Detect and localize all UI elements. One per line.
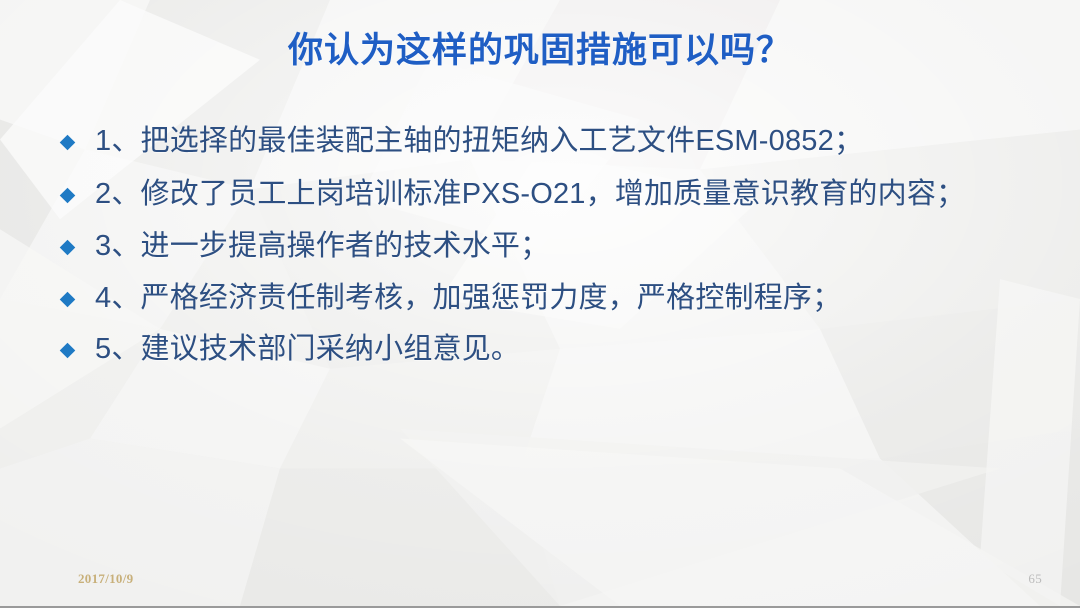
- diamond-bullet-icon: [60, 343, 76, 359]
- presentation-slide: 你认为这样的巩固措施可以吗？ 1、把选择的最佳装配主轴的扭矩纳入工艺文件ESM-…: [0, 0, 1080, 608]
- list-item-text: 1、把选择的最佳装配主轴的扭矩纳入工艺文件ESM-0852；: [95, 122, 1040, 161]
- footer-date: 2017/10/9: [78, 571, 133, 587]
- slide-title: 你认为这样的巩固措施可以吗？: [0, 22, 1080, 73]
- diamond-bullet-icon: [60, 291, 76, 307]
- list-item: 5、建议技术部门采纳小组意见。: [62, 330, 1040, 369]
- list-item-text: 3、进一步提高操作者的技术水平；: [95, 227, 1040, 266]
- footer-page-number: 65: [1028, 571, 1042, 587]
- list-item: 2、修改了员工上岗培训标准PXS-O21，增加质量意识教育的内容；: [62, 175, 1040, 214]
- diamond-bullet-icon: [60, 240, 76, 256]
- list-item-text: 4、严格经济责任制考核，加强惩罚力度，严格控制程序；: [95, 279, 1040, 318]
- list-item-text: 2、修改了员工上岗培训标准PXS-O21，增加质量意识教育的内容；: [95, 175, 1040, 214]
- slide-content: 你认为这样的巩固措施可以吗？ 1、把选择的最佳装配主轴的扭矩纳入工艺文件ESM-…: [0, 0, 1080, 606]
- list-item: 4、严格经济责任制考核，加强惩罚力度，严格控制程序；: [62, 279, 1040, 318]
- list-item: 1、把选择的最佳装配主轴的扭矩纳入工艺文件ESM-0852；: [62, 122, 1040, 161]
- list-item: 3、进一步提高操作者的技术水平；: [62, 227, 1040, 266]
- diamond-bullet-icon: [60, 135, 76, 151]
- list-item-text: 5、建议技术部门采纳小组意见。: [95, 330, 1040, 369]
- bullet-list: 1、把选择的最佳装配主轴的扭矩纳入工艺文件ESM-0852； 2、修改了员工上岗…: [62, 122, 1040, 382]
- diamond-bullet-icon: [60, 187, 76, 203]
